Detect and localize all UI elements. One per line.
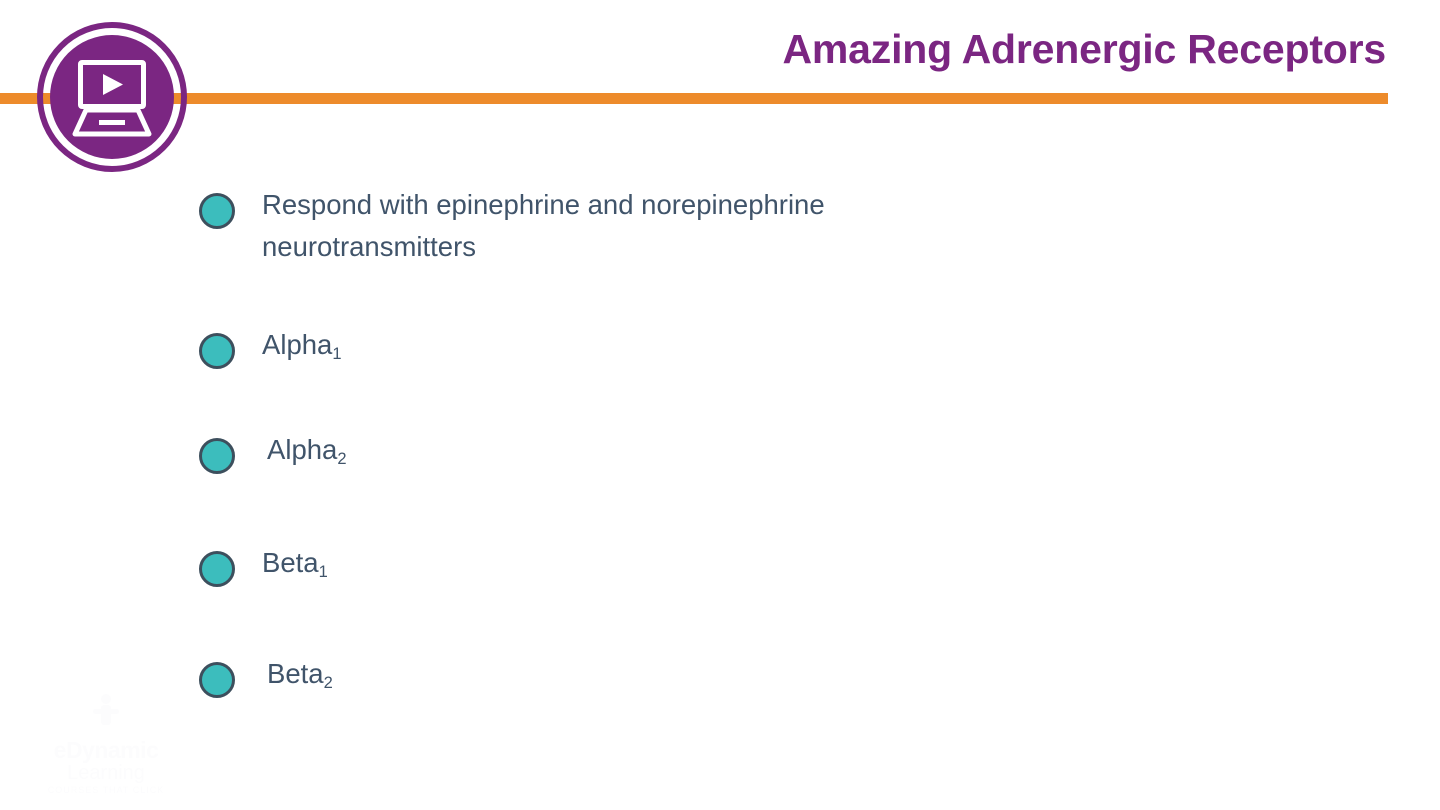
teal-circle-bullet-icon: [199, 662, 235, 698]
slide-header: Amazing Adrenergic Receptors: [0, 0, 1440, 170]
brand-logo: [37, 22, 187, 172]
bullet-item-base: Beta: [267, 658, 324, 689]
watermark-subtitle: Learning: [26, 762, 186, 784]
watermark-name: eDynamic: [26, 739, 186, 762]
laptop-trackpad-icon: [99, 120, 125, 125]
teal-circle-bullet-icon: [199, 333, 235, 369]
bullet-item-alpha-1: Alpha1: [199, 331, 342, 369]
watermark: eDynamic Learning COURSES THAT CLICK: [26, 691, 186, 796]
header-divider-rule: [0, 93, 1388, 104]
bullet-item-base: Alpha: [262, 329, 332, 360]
teal-circle-bullet-icon: [199, 551, 235, 587]
teal-circle-bullet-icon: [199, 193, 235, 229]
bullet-item-label: Beta1: [262, 542, 328, 584]
bullet-item-beta-2: Beta2: [199, 660, 333, 698]
bullet-item-subscript: 2: [337, 450, 346, 468]
bullet-item-alpha-2: Alpha2: [199, 436, 347, 474]
bullet-item-subscript: 1: [319, 563, 328, 581]
bullet-item-label: Respond with epinephrine and norepinephr…: [262, 184, 825, 268]
bullet-item-label: Beta2: [267, 653, 333, 695]
bullet-item-base: Beta: [262, 547, 319, 578]
watermark-mark-icon: [83, 691, 129, 737]
bullet-item-base: Alpha: [267, 434, 337, 465]
bullet-item-beta-1: Beta1: [199, 549, 328, 587]
bullet-item-subscript: 1: [332, 345, 341, 363]
bullet-item-label: Alpha2: [267, 429, 347, 471]
bullet-item-label: Alpha1: [262, 324, 342, 366]
logo-inner-disc: [50, 35, 174, 159]
watermark-tagline: COURSES THAT CLICK: [26, 784, 186, 796]
teal-circle-bullet-icon: [199, 438, 235, 474]
bullet-item-subscript: 2: [324, 674, 333, 692]
bullet-item-respond: Respond with epinephrine and norepinephr…: [199, 191, 825, 268]
slide-title: Amazing Adrenergic Receptors: [783, 26, 1386, 73]
